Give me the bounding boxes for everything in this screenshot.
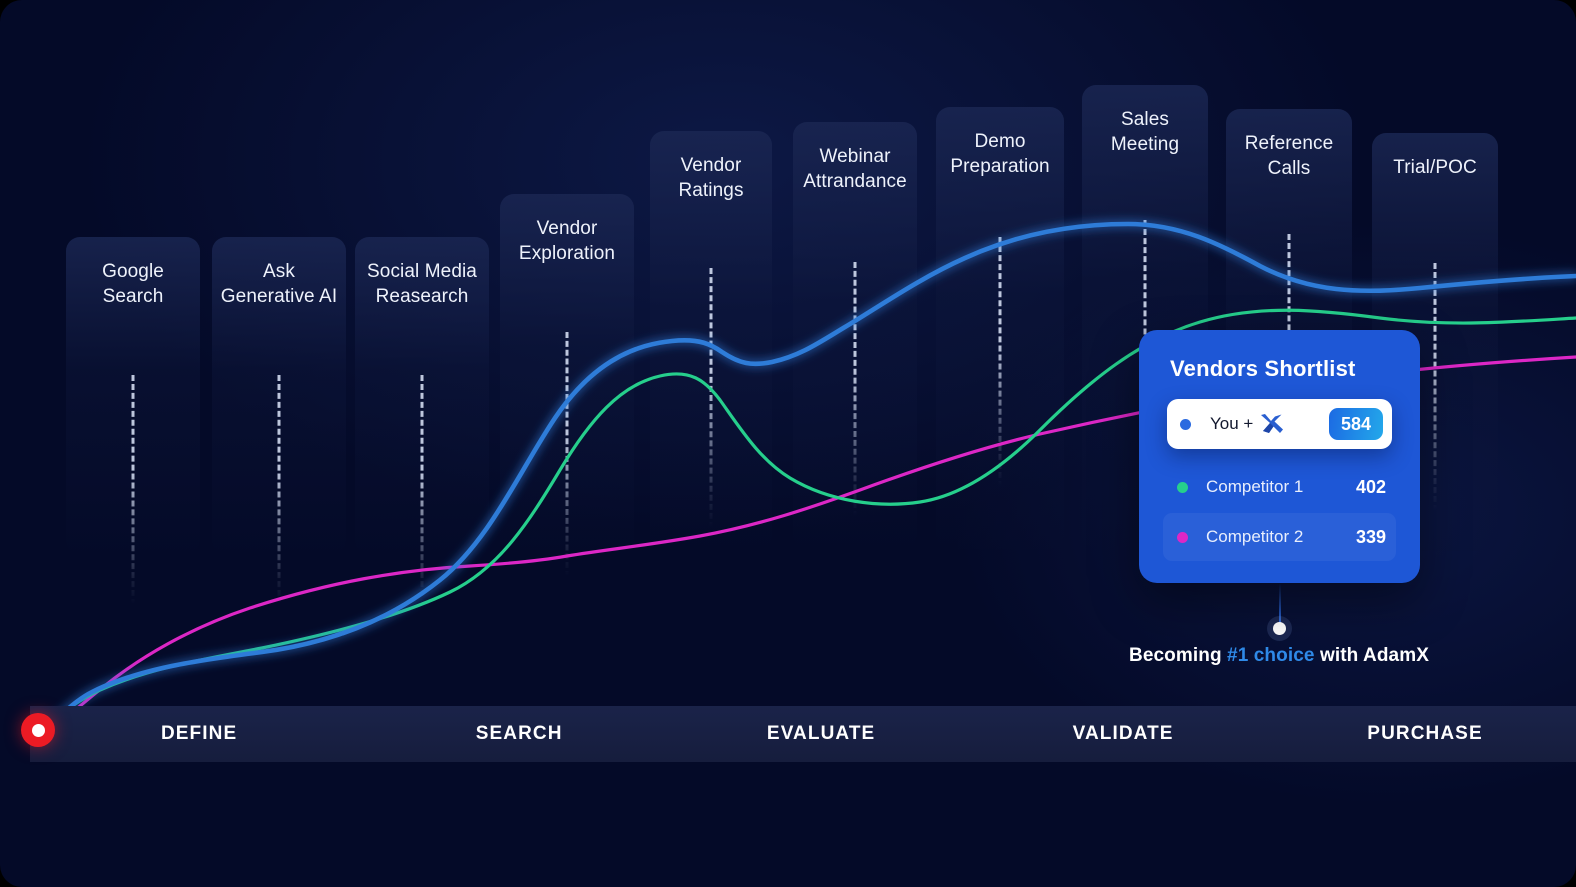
tooltip-primary-name-wrap: You +: [1210, 412, 1285, 436]
journey-origin-marker: [21, 713, 55, 747]
caption-prefix: Becoming: [1129, 645, 1227, 666]
tooltip-anchor-node: [1267, 616, 1292, 641]
adamx-logo-icon: [1259, 412, 1285, 436]
caption-suffix: with AdamX: [1315, 645, 1429, 666]
tooltip-primary-value: 584: [1329, 408, 1383, 440]
tooltip-row-name: Competitor 2: [1206, 527, 1303, 547]
stage-item-search[interactable]: SEARCH: [368, 723, 670, 745]
tooltip-primary-name: You +: [1210, 414, 1253, 434]
tooltip-row-competitor-1[interactable]: Competitor 1 402: [1163, 463, 1396, 511]
stage-item-define[interactable]: DEFINE: [30, 723, 368, 745]
tooltip-row-name: Competitor 1: [1206, 477, 1303, 497]
caption-text: Becoming #1 choice with AdamX: [1129, 645, 1429, 667]
tooltip-row-competitor-2[interactable]: Competitor 2 339: [1163, 513, 1396, 561]
series-dot-competitor-1-icon: [1177, 482, 1188, 493]
chart-canvas: Google Search Ask Generative AI Social M…: [0, 0, 1576, 887]
stage-item-purchase[interactable]: PURCHASE: [1274, 723, 1576, 745]
tooltip-row-value: 339: [1356, 527, 1386, 548]
origin-marker-inner: [32, 724, 45, 737]
stage-item-evaluate[interactable]: EVALUATE: [670, 723, 972, 745]
series-dot-you-icon: [1180, 419, 1191, 430]
series-dot-competitor-2-icon: [1177, 532, 1188, 543]
vendors-shortlist-tooltip[interactable]: Vendors Shortlist You + 584 Competitor 1…: [1139, 330, 1420, 583]
tooltip-row-value: 402: [1356, 477, 1386, 498]
caption-highlight: #1 choice: [1227, 645, 1315, 666]
stage-item-validate[interactable]: VALIDATE: [972, 723, 1274, 745]
stage-bar: DEFINE SEARCH EVALUATE VALIDATE PURCHASE: [30, 706, 1576, 762]
tooltip-title: Vendors Shortlist: [1139, 356, 1420, 382]
tooltip-primary-row[interactable]: You + 584: [1167, 399, 1392, 449]
tooltip-anchor-dot: [1273, 622, 1286, 635]
